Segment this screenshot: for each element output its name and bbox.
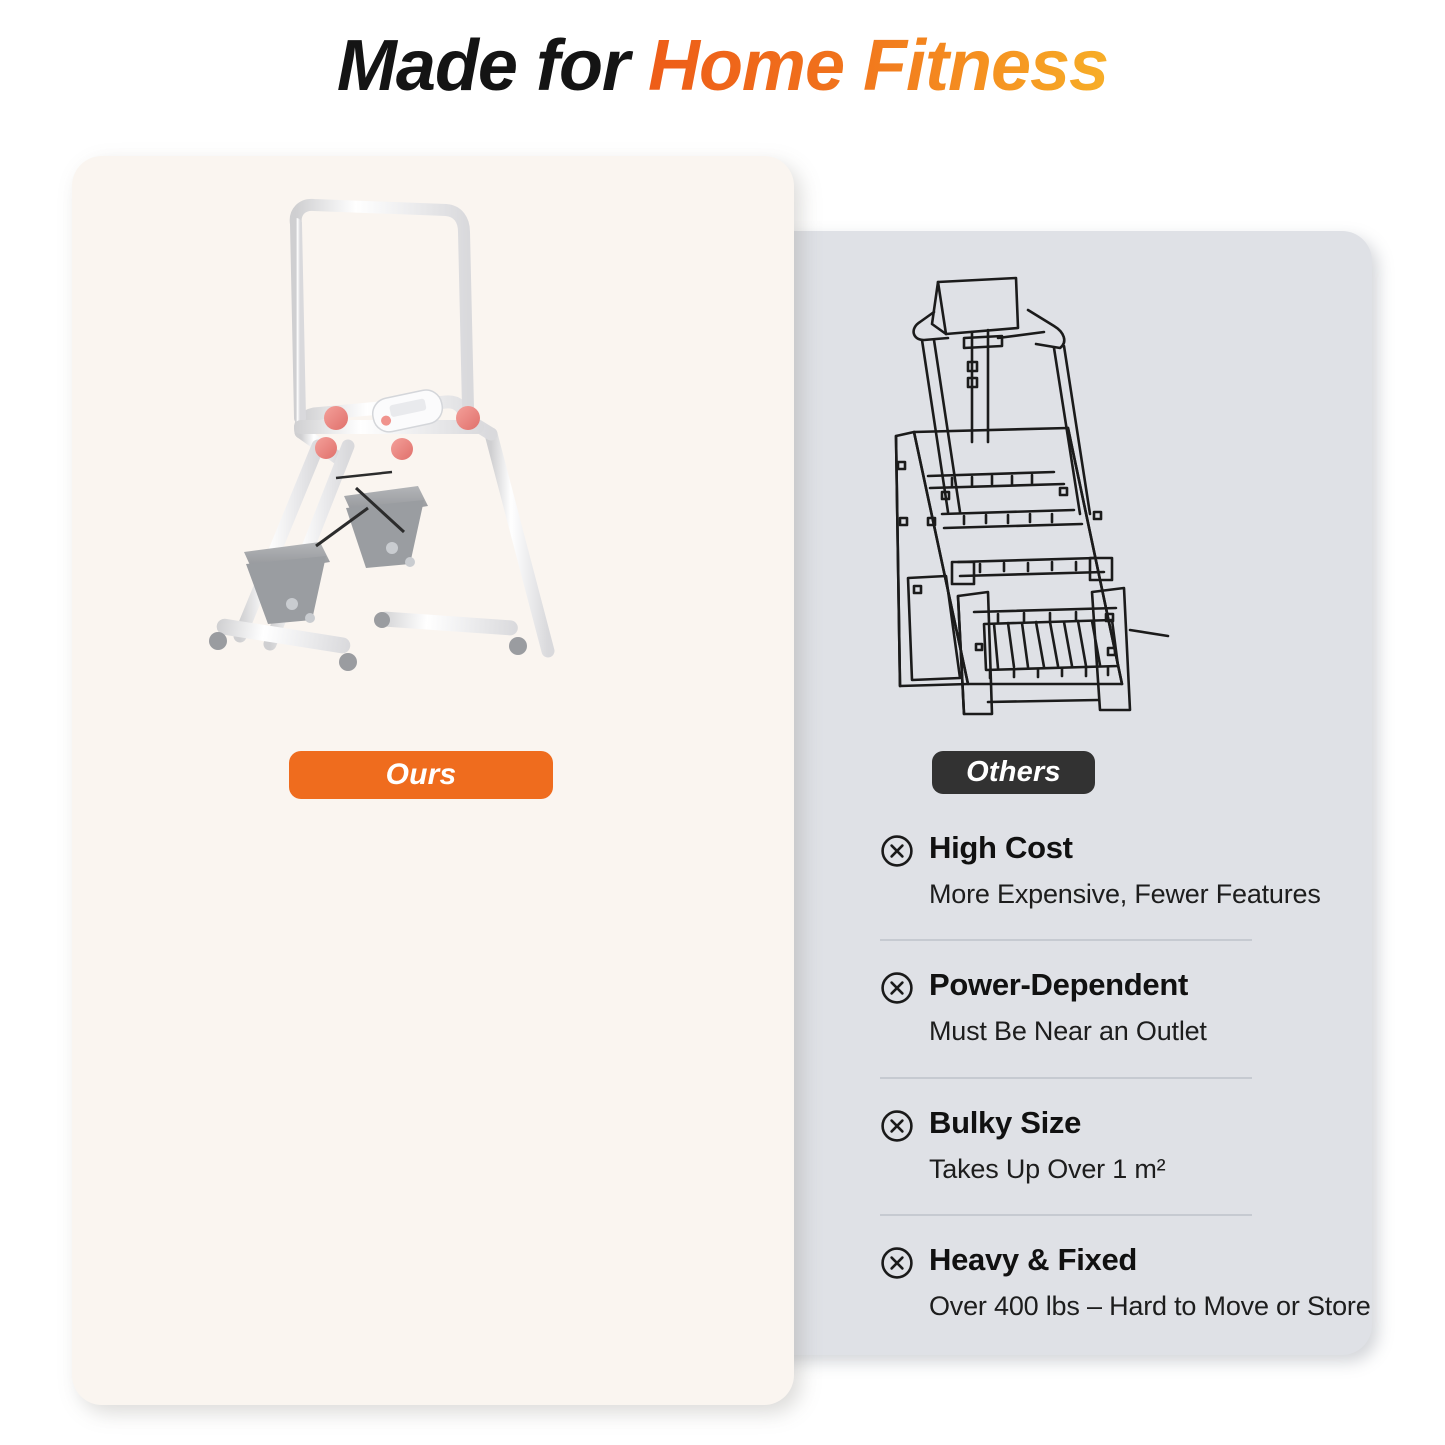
circle-x-icon xyxy=(880,971,914,1005)
ours-badge: Ours xyxy=(289,751,553,799)
feature-subtitle: Must Be Near an Outlet xyxy=(929,1015,1252,1047)
feature-subtitle: More Expensive, Fewer Features xyxy=(929,878,1252,910)
page-title: Made for Home Fitness xyxy=(0,26,1445,107)
circle-x-icon xyxy=(880,834,914,868)
list-item: High Cost More Expensive, Fewer Features xyxy=(880,832,1252,941)
feature-heading: Bulky Size xyxy=(880,1107,1252,1143)
circle-x-icon xyxy=(880,1246,914,1280)
list-divider xyxy=(880,939,1252,941)
feature-heading: Power-Dependent xyxy=(880,969,1252,1005)
feature-title: Power-Dependent xyxy=(929,969,1188,1002)
feature-title: Bulky Size xyxy=(929,1107,1081,1140)
circle-x-icon xyxy=(880,1109,914,1143)
page-title-highlight: Home Fitness xyxy=(648,26,1108,106)
comparison-infographic: Made for Home Fitness xyxy=(0,0,1445,1445)
feature-title: High Cost xyxy=(929,832,1073,865)
feature-heading: High Cost xyxy=(880,832,1252,868)
list-divider xyxy=(880,1214,1252,1216)
ours-product-image xyxy=(196,196,616,716)
list-divider xyxy=(880,1077,1252,1079)
others-badge-label: Others xyxy=(966,756,1061,789)
list-item: Bulky Size Takes Up Over 1 m² xyxy=(880,1107,1252,1216)
others-feature-list: High Cost More Expensive, Fewer Features… xyxy=(880,832,1252,1323)
feature-heading: Heavy & Fixed xyxy=(880,1244,1252,1280)
feature-subtitle: Over 400 lbs – Hard to Move or Store xyxy=(929,1290,1252,1322)
page-title-plain: Made for xyxy=(337,26,648,106)
others-product-image xyxy=(868,266,1204,718)
feature-subtitle: Takes Up Over 1 m² xyxy=(929,1153,1252,1185)
feature-title: Heavy & Fixed xyxy=(929,1244,1137,1277)
others-badge: Others xyxy=(932,751,1095,794)
list-item: Power-Dependent Must Be Near an Outlet xyxy=(880,969,1252,1078)
list-item: Heavy & Fixed Over 400 lbs – Hard to Mov… xyxy=(880,1244,1252,1322)
ours-badge-label: Ours xyxy=(386,758,457,792)
